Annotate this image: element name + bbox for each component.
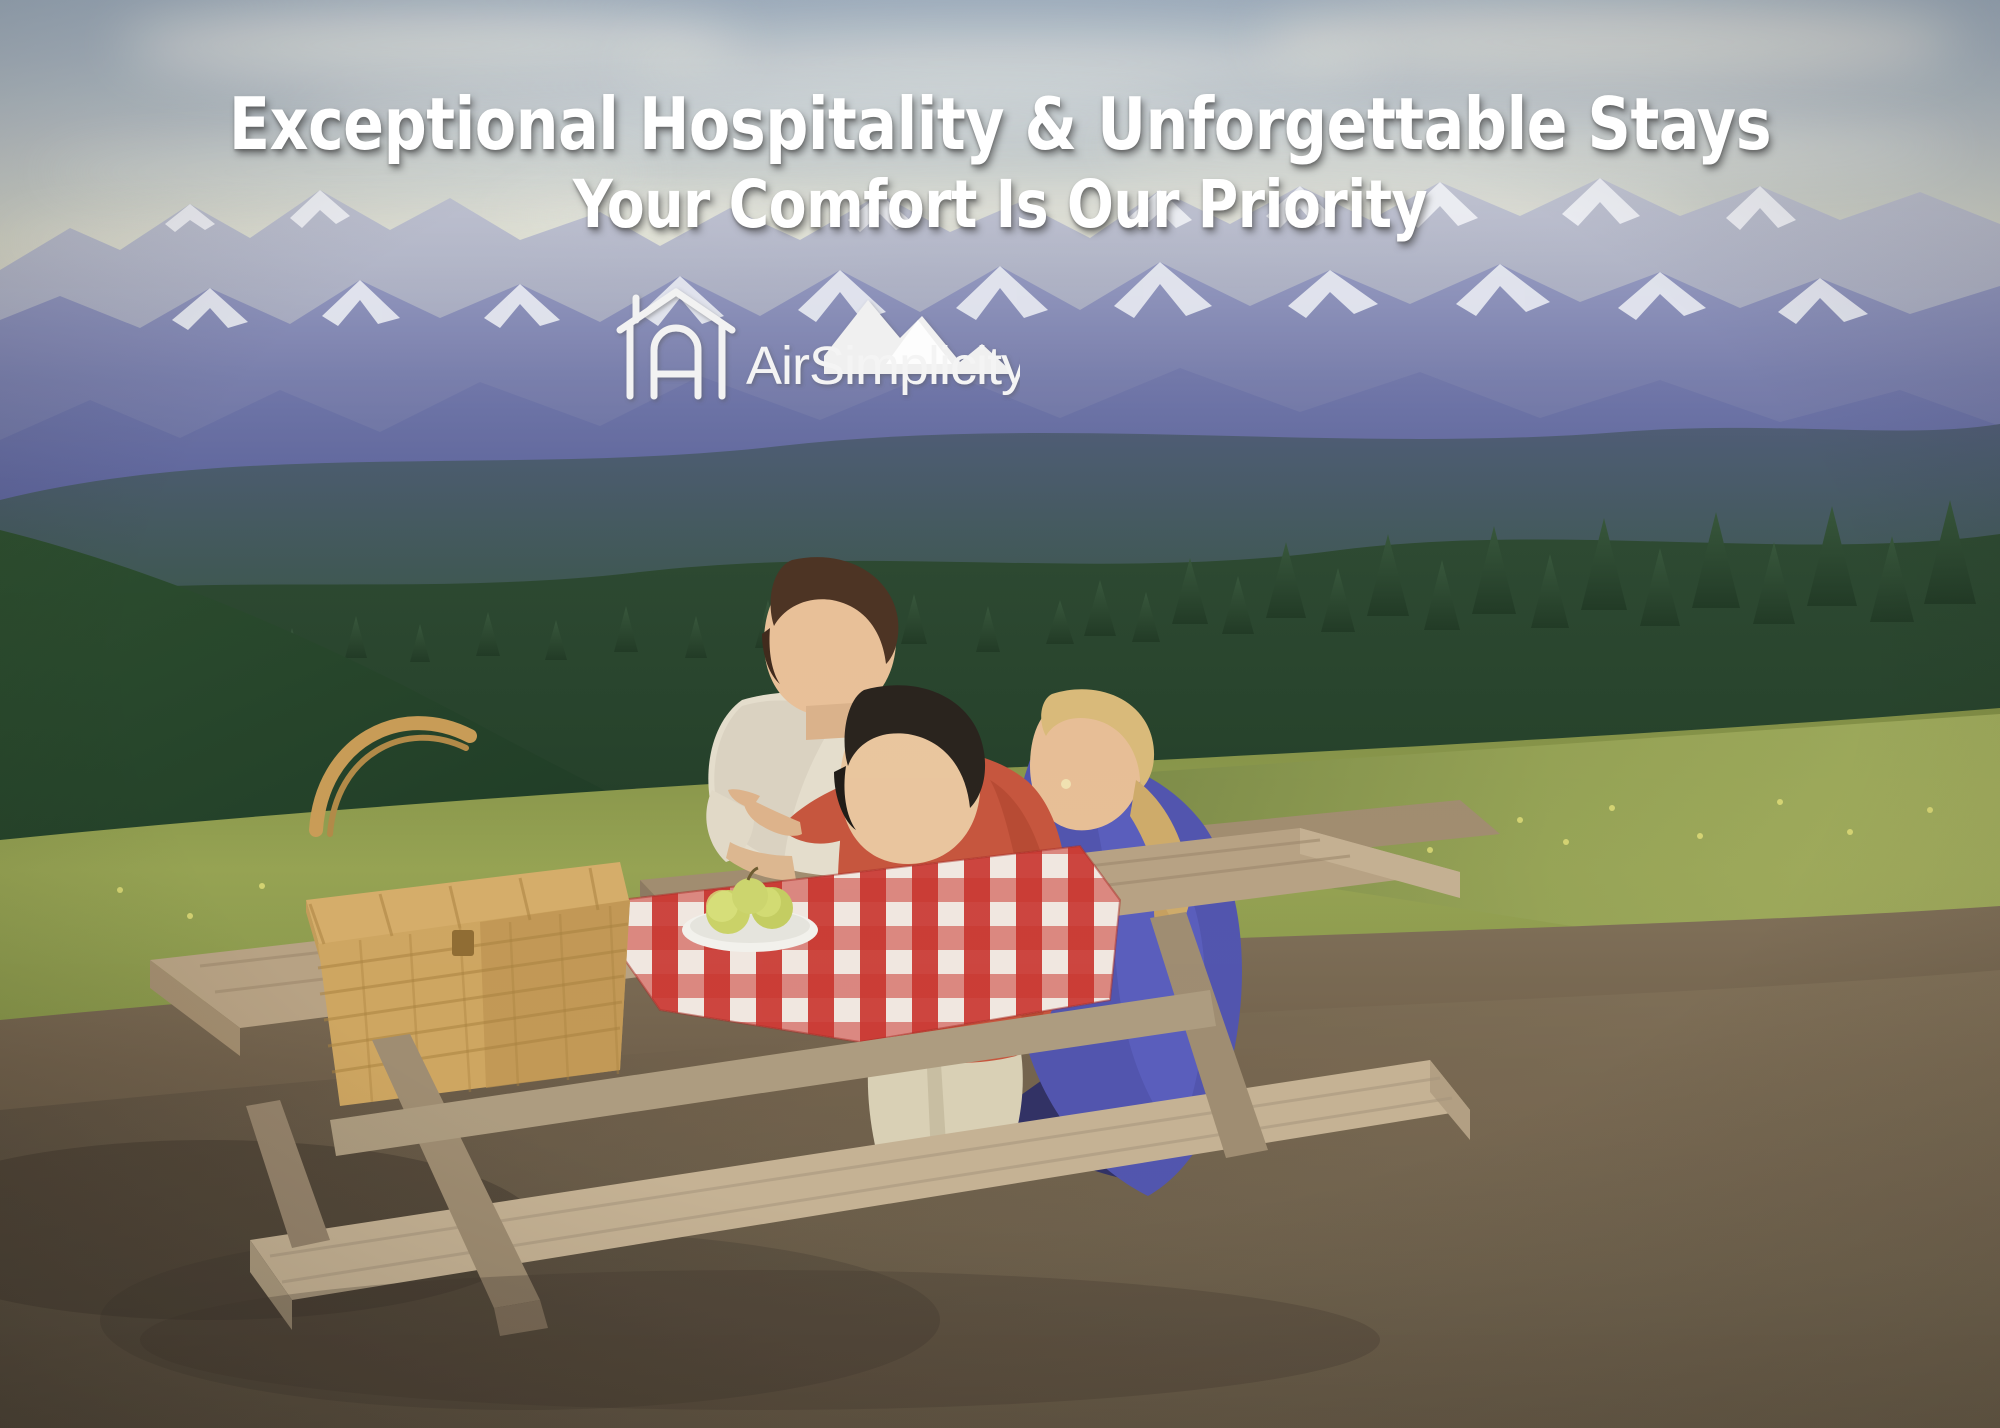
hero-banner: Exceptional Hospitality & Unforgettable … (0, 0, 2000, 1428)
table-shadow (140, 1270, 1380, 1410)
earring (1061, 779, 1071, 789)
picnic-basket (306, 723, 630, 1106)
basket-clasp (452, 930, 474, 956)
family-picnic-scene (0, 0, 2000, 1428)
apple (732, 878, 768, 914)
